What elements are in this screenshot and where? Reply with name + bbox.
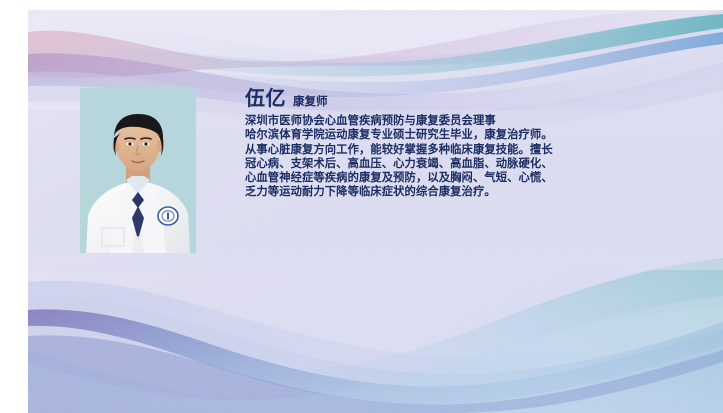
profile-detail-line-1: 深圳市医师协会心血管疾病预防与康复委员会理事 — [245, 114, 645, 128]
portrait-illustration — [80, 88, 196, 253]
profile-detail-line-4: 冠心病、支架术后、高血压、心力衰竭、高血脂、动脉硬化、 — [245, 157, 645, 171]
profile-role: 康复师 — [293, 96, 328, 109]
profile-name-row: 伍亿 康复师 — [245, 88, 645, 110]
profile-detail-line-6: 乏力等运动耐力下降等临床症状的综合康复治疗。 — [245, 185, 645, 199]
profile-photo — [80, 88, 196, 253]
profile-detail-line-5: 心血管神经症等疾病的康复及预防，以及胸闷、气短、心慌、 — [245, 171, 645, 185]
profile-name: 伍亿 — [245, 88, 286, 110]
profile-detail-line-2: 哈尔滨体育学院运动康复专业硕士研究生毕业，康复治疗师。 — [245, 128, 645, 142]
profile-text-block: 伍亿 康复师 深圳市医师协会心血管疾病预防与康复委员会理事 哈尔滨体育学院运动康… — [245, 88, 645, 200]
profile-slide: 伍亿 康复师 深圳市医师协会心血管疾病预防与康复委员会理事 哈尔滨体育学院运动康… — [28, 10, 723, 413]
profile-detail-line-3: 从事心脏康复方向工作，能较好掌握多种临床康复技能。擅长 — [245, 143, 645, 157]
